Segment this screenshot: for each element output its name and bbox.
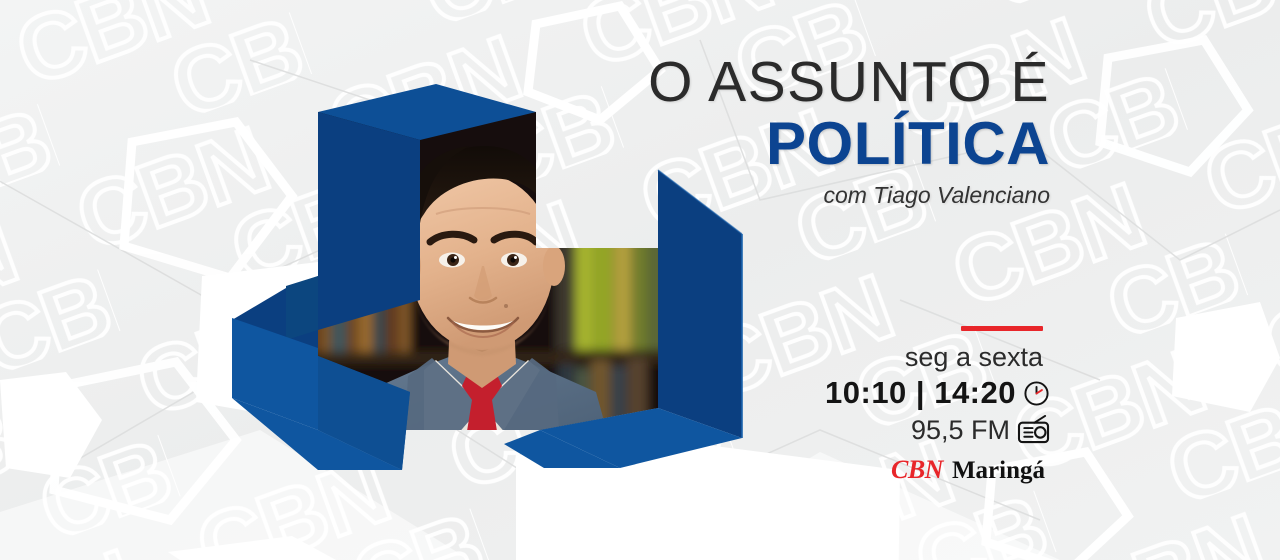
station-logo: CBN Maringá [760,455,1050,485]
schedule-block: seg a sexta 10:10 | 14:20 95,5 FM [760,326,1050,485]
radio-program-banner: CBN CBN [0,0,1280,560]
station-network-name: CBN [891,455,943,485]
station-city-name: Maringá [952,457,1045,485]
broadcast-times: 10:10 | 14:20 [825,375,1016,411]
program-title-line2: POLÍTICA [540,112,1050,176]
broadcast-days: seg a sexta [760,340,1050,374]
clock-icon [1023,380,1050,407]
program-title-line1: O ASSUNTO É [540,52,1050,112]
radio-frequency: 95,5 FM [911,414,1010,446]
red-accent-rule [961,326,1043,331]
broadcast-times-row: 10:10 | 14:20 [760,375,1050,411]
radio-icon [1017,415,1050,445]
frequency-row: 95,5 FM [760,414,1050,446]
program-title-block: O ASSUNTO É POLÍTICA com Tiago Valencian… [540,52,1050,210]
program-host: com Tiago Valenciano [540,180,1050,210]
